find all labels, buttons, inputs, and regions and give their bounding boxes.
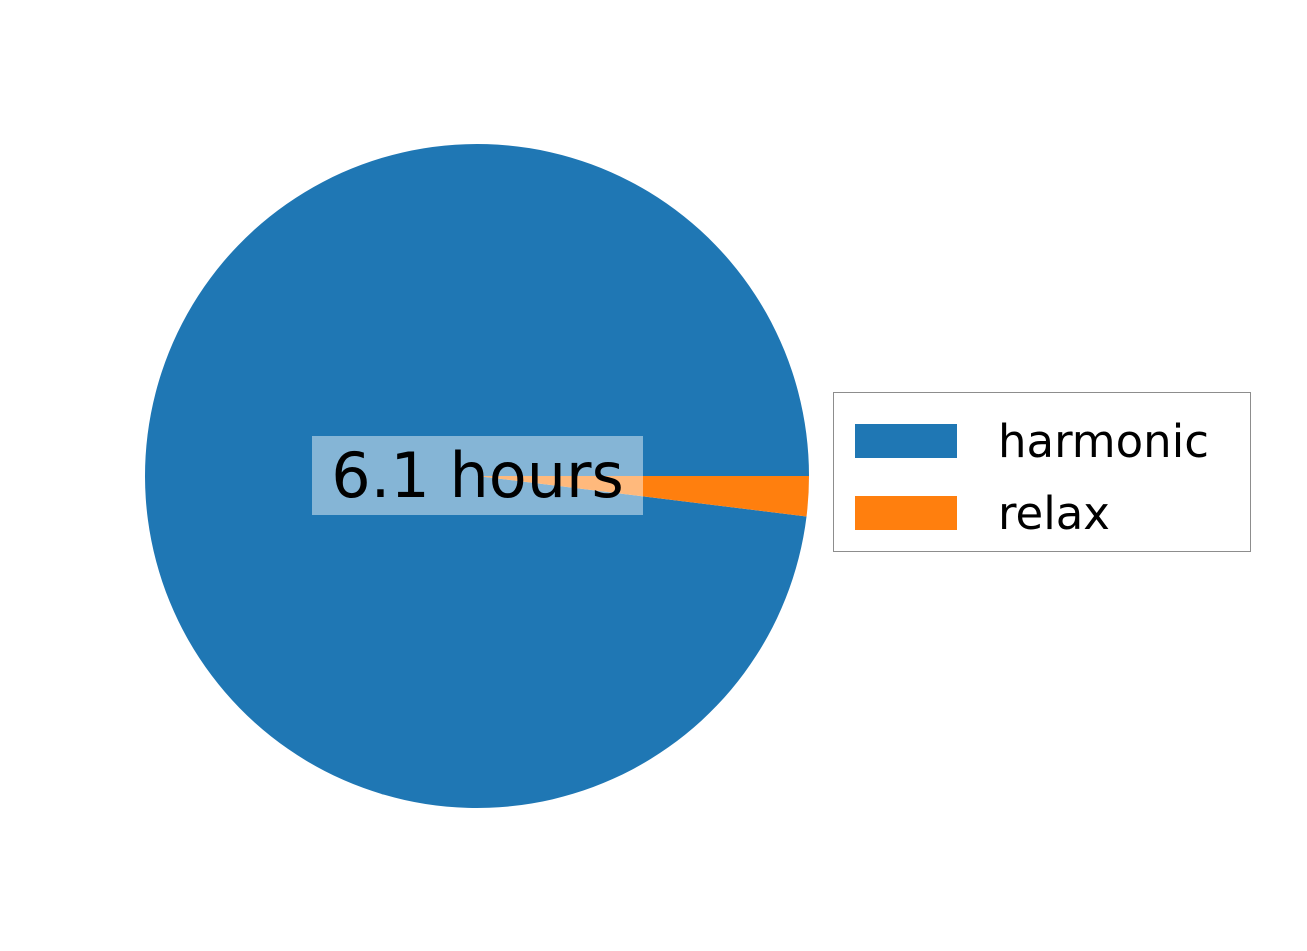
- pie-slice-label-harmonic: 6.1 hours: [312, 436, 643, 515]
- figure-canvas: 6.1 hours harmonic relax: [0, 0, 1307, 951]
- legend-item-relax[interactable]: relax: [834, 477, 1250, 549]
- pie-slice-label-text: 6.1 hours: [331, 445, 624, 507]
- legend-item-harmonic[interactable]: harmonic: [834, 405, 1250, 477]
- legend-label-relax: relax: [998, 491, 1110, 536]
- legend-label-harmonic: harmonic: [998, 419, 1209, 464]
- legend: harmonic relax: [833, 392, 1251, 552]
- legend-swatch-relax: [855, 496, 957, 530]
- legend-swatch-harmonic: [855, 424, 957, 458]
